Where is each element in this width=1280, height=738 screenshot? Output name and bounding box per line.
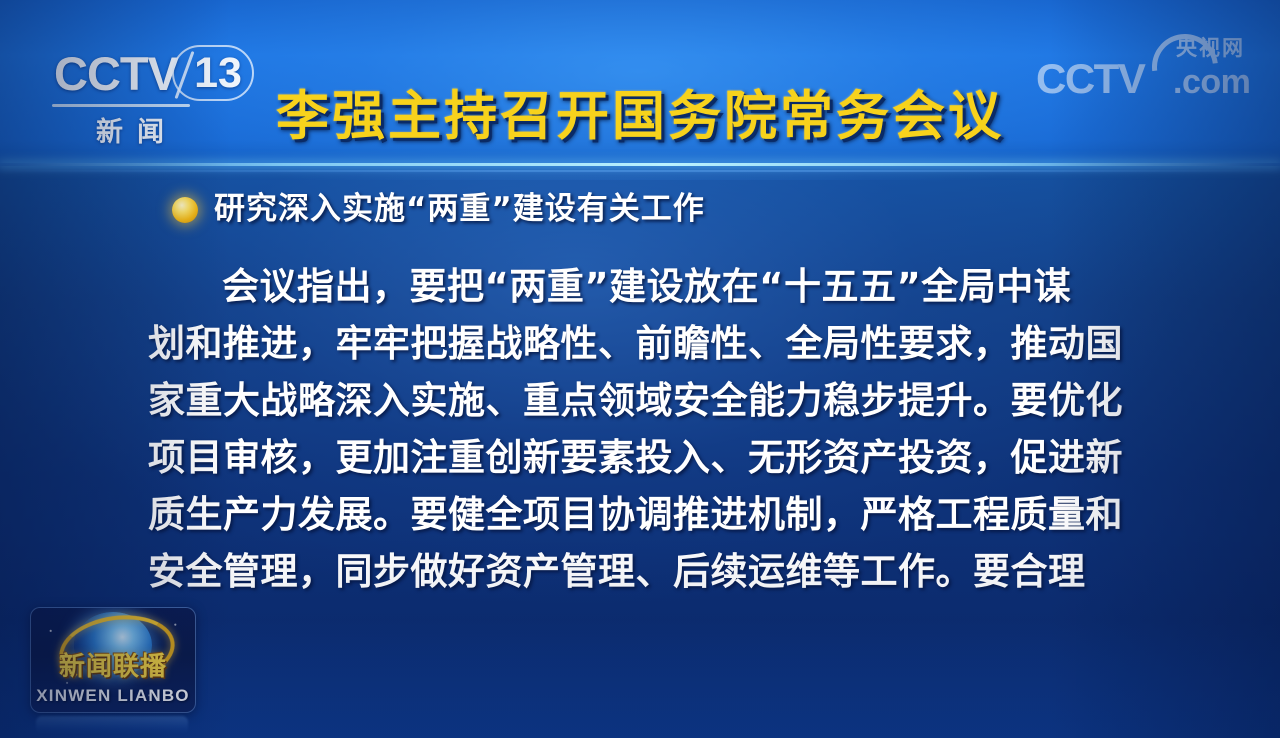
program-name-pinyin: XINWEN LIANBO — [31, 686, 195, 706]
xinwen-lianbo-program-bug: 新闻联播 XINWEN LIANBO — [30, 607, 196, 713]
cctvcom-chinese-label: 央视网 — [1176, 38, 1245, 59]
header-separator-line — [0, 163, 1280, 166]
program-bug-reflection — [36, 716, 188, 734]
body-line: 质生产力发展。要健全项目协调推进机制，严格工程质量和 — [148, 486, 1158, 543]
body-line: 划和推进，牢牢把握战略性、前瞻性、全局性要求，推动国 — [148, 315, 1158, 372]
page-title: 李强主持召开国务院常务会议 — [0, 90, 1280, 143]
cctv13-channel-number: 13 — [194, 52, 242, 95]
body-line: 家重大战略深入实施、重点领域安全能力稳步提升。要优化 — [148, 372, 1158, 429]
subheading-row: 研究深入实施“两重”建设有关工作 — [172, 194, 705, 225]
subheading-text: 研究深入实施“两重”建设有关工作 — [214, 194, 705, 225]
body-line: 会议指出，要把“两重”建设放在“十五五”全局中谋 — [148, 258, 1158, 315]
bullet-dot-icon — [172, 197, 198, 223]
program-name-chinese: 新闻联播 — [31, 654, 195, 680]
broadcast-screen: CCTV 13 新闻 CCTV .com 央视网 李强主持召开国务院常务会议 研… — [0, 0, 1280, 738]
body-line: 项目审核，更加注重创新要素投入、无形资产投资，促进新 — [148, 429, 1158, 486]
body-paragraph: 会议指出，要把“两重”建设放在“十五五”全局中谋 划和推进，牢牢把握战略性、前瞻… — [148, 258, 1158, 600]
header-separator-glow — [0, 170, 1280, 172]
body-line: 安全管理，同步做好资产管理、后续运维等工作。要合理 — [148, 543, 1158, 600]
